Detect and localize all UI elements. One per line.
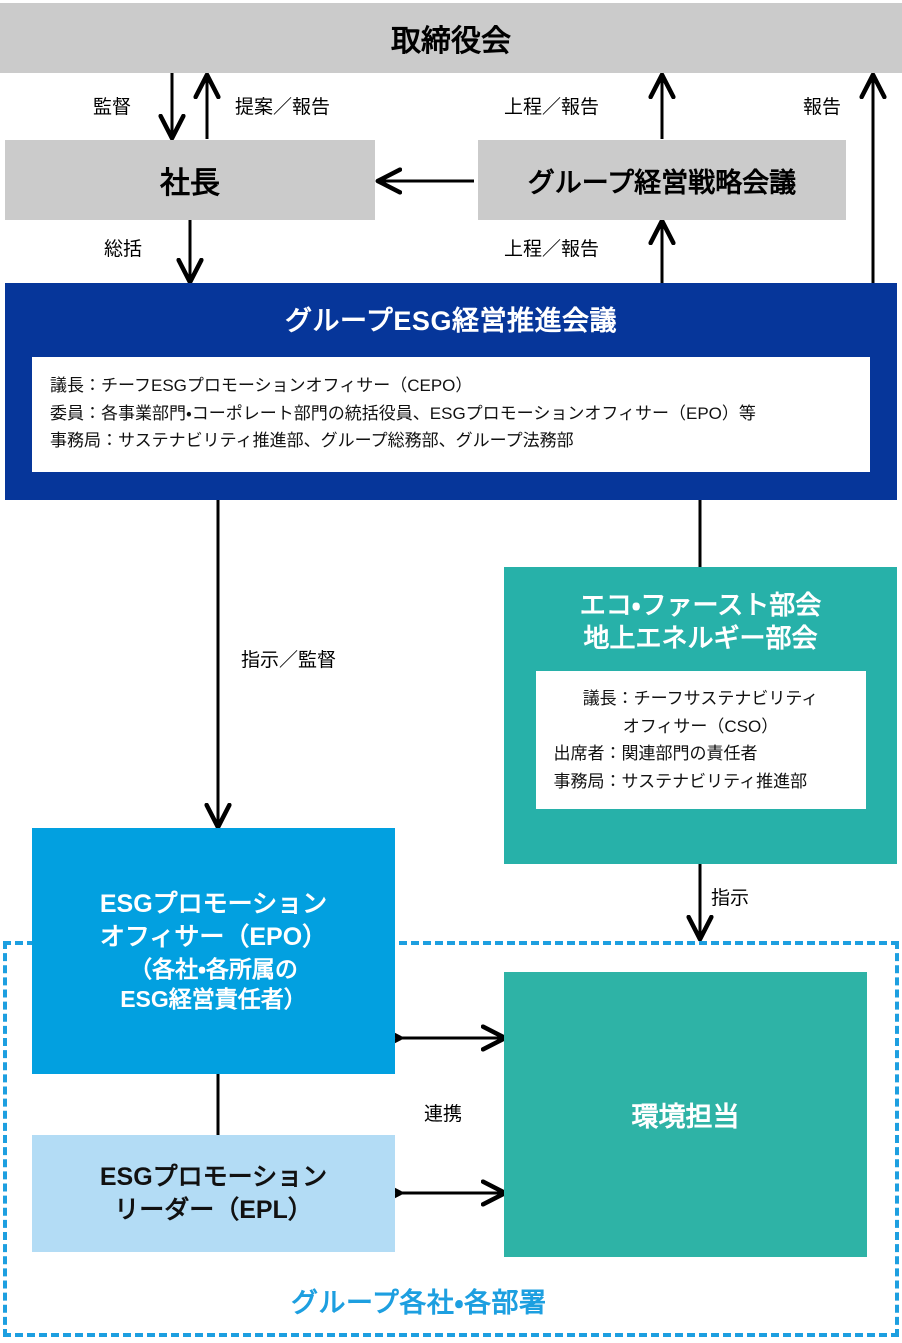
node-eco-first-committee[interactable]: エコ・ファースト部会 地上エネルギー部会 議長：チーフサステナビリティ オフィサ… (504, 567, 897, 864)
node-epl[interactable]: ESGプロモーション リーダー（EPL） (32, 1135, 395, 1252)
edge-label-propose-report: 提案／報告 (235, 98, 330, 117)
node-epo-line4: ESG経営責任者） (120, 984, 307, 1014)
node-eco-first-title-line1: エコ・ファースト部会 (580, 589, 822, 622)
node-group-strategy-meeting-label: グループ経営戦略会議 (528, 161, 796, 200)
node-environment[interactable]: 環境担当 (504, 972, 867, 1257)
node-board-label: 取締役会 (391, 16, 511, 60)
node-epo[interactable]: ESGプロモーション オフィサー（EPO） （各社・各所属の ESG経営責任者） (32, 828, 395, 1074)
edge-label-report: 報告 (803, 98, 841, 117)
node-esg-council[interactable]: グループESG経営推進会議 議長：チーフESGプロモーションオフィサー（CEPO… (5, 283, 897, 500)
node-board[interactable]: 取締役会 (0, 3, 902, 73)
edge-label-instruct: 指示 (711, 889, 749, 908)
edge-label-submit-report-bottom: 上程／報告 (504, 240, 599, 259)
node-president[interactable]: 社長 (5, 140, 375, 220)
eco-first-detail-attendees: 出席者：関連部門の責任者 (546, 740, 856, 768)
eco-first-detail-secretariat: 事務局：サステナビリティ推進部 (546, 768, 856, 796)
node-eco-first-title: エコ・ファースト部会 地上エネルギー部会 (580, 589, 822, 654)
eco-first-details-panel: 議長：チーフサステナビリティ オフィサー（CSO） 出席者：関連部門の責任者 事… (536, 671, 866, 809)
esg-council-details-panel: 議長：チーフESGプロモーションオフィサー（CEPO） 委員：各事業部門・コーポ… (32, 357, 870, 472)
node-president-label: 社長 (160, 158, 220, 202)
eco-first-detail-chair-line2: オフィサー（CSO） (546, 713, 856, 741)
node-environment-label: 環境担当 (632, 1095, 740, 1134)
node-epo-line3: （各社・各所属の (129, 954, 298, 984)
node-esg-council-title: グループESG経営推進会議 (285, 305, 617, 337)
node-epl-line2: リーダー（EPL） (114, 1194, 313, 1227)
node-epo-line1: ESGプロモーション (100, 888, 327, 921)
node-epl-line1: ESGプロモーション (100, 1161, 327, 1194)
edge-label-supervise: 監督 (93, 98, 131, 117)
edge-label-cooperate: 連携 (424, 1105, 462, 1124)
node-group-strategy-meeting[interactable]: グループ経営戦略会議 (478, 140, 846, 220)
node-eco-first-title-line2: 地上エネルギー部会 (580, 622, 822, 655)
esg-council-detail-chair: 議長：チーフESGプロモーションオフィサー（CEPO） (50, 372, 852, 400)
edge-label-instruct-supervise: 指示／監督 (241, 651, 336, 670)
node-epo-line2: オフィサー（EPO） (100, 921, 327, 954)
group-frame-label: グループ各社・各部署 (291, 1281, 547, 1320)
eco-first-detail-chair-line1: 議長：チーフサステナビリティ (546, 685, 856, 713)
diagram-canvas: 取締役会 社長 グループ経営戦略会議 グループESG経営推進会議 議長：チーフE… (0, 0, 902, 1343)
edge-label-oversee: 総括 (104, 240, 142, 259)
edge-label-submit-report-top: 上程／報告 (504, 98, 599, 117)
esg-council-detail-members: 委員：各事業部門・コーポレート部門の統括役員、ESGプロモーションオフィサー（E… (50, 400, 852, 428)
esg-council-detail-secretariat: 事務局：サステナビリティ推進部、グループ総務部、グループ法務部 (50, 427, 852, 455)
